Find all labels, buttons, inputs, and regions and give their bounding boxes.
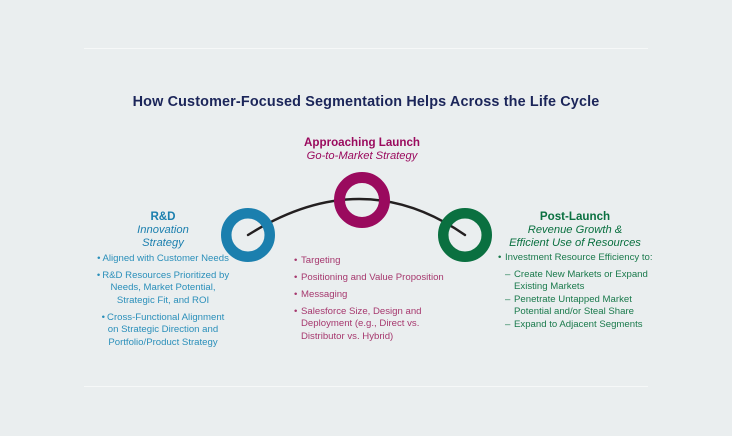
dash-icon: – [505, 319, 510, 331]
bullet-icon: • [102, 312, 105, 323]
list-item: •Aligned with Customer Needs [88, 253, 238, 265]
bullet-list-launch: •Targeting•Positioning and Value Proposi… [294, 255, 444, 348]
list-item-line: Penetrate Untapped Market [514, 294, 632, 305]
list-item-line: Existing Markets [514, 281, 584, 292]
list-item: •Messaging [294, 289, 444, 301]
list-item: –Expand to Adjacent Segments [505, 319, 656, 331]
stage-header-rd: R&D Innovation Strategy [98, 210, 228, 250]
list-item: •Salesforce Size, Design andDeployment (… [294, 306, 444, 343]
stage-subtitle-post-line2: Efficient Use of Resources [500, 237, 650, 250]
list-item-line: Strategic Fit, and ROI [117, 295, 209, 306]
list-item: •Targeting [294, 255, 444, 267]
stage-subtitle-post-line1: Revenue Growth & [500, 224, 650, 237]
list-item-line: Potential and/or Steal Share [514, 306, 634, 317]
list-item-line: Needs, Market Potential, [110, 282, 215, 293]
bullet-icon: • [294, 255, 297, 267]
stage-subtitle-rd-line1: Innovation [98, 224, 228, 237]
stage-title-launch: Approaching Launch [287, 136, 437, 150]
stage-header-post: Post-Launch Revenue Growth & Efficient U… [500, 210, 650, 250]
list-item-line: Aligned with Customer Needs [102, 253, 228, 264]
bullet-icon: • [294, 289, 297, 301]
stage-subtitle-rd-line2: Strategy [98, 237, 228, 250]
dash-icon: – [505, 294, 510, 306]
list-item-line: Salesforce Size, Design and [301, 306, 422, 317]
list-item-line: Positioning and Value Proposition [301, 272, 444, 283]
stage-title-post: Post-Launch [500, 210, 650, 224]
list-item: –Create New Markets or ExpandExisting Ma… [505, 269, 656, 294]
bullet-icon: • [97, 253, 100, 264]
list-item-line: Messaging [301, 289, 347, 300]
bullet-icon: • [294, 272, 297, 284]
list-item-line: Deployment (e.g., Direct vs. [301, 318, 419, 329]
list-item-line: Targeting [301, 255, 340, 266]
bullet-list-rd: •Aligned with Customer Needs•R&D Resourc… [88, 253, 238, 354]
list-item-line: Investment Resource Efficiency to: [505, 252, 653, 263]
list-item: •Positioning and Value Proposition [294, 272, 444, 284]
bullet-icon: • [294, 306, 297, 318]
stage-header-launch: Approaching Launch Go-to-Market Strategy [287, 136, 437, 163]
slide-canvas: How Customer-Focused Segmentation Helps … [0, 0, 732, 436]
list-item-line: Create New Markets or Expand [514, 269, 648, 280]
list-item-line: Distributor vs. Hybrid) [301, 331, 393, 342]
dash-icon: – [505, 269, 510, 281]
list-item-line: R&D Resources Prioritized by [102, 270, 229, 281]
bullet-icon: • [498, 252, 501, 264]
list-item: •R&D Resources Prioritized byNeeds, Mark… [88, 270, 238, 307]
list-item-line: Cross-Functional Alignment [107, 312, 224, 323]
stage-subtitle-launch-line1: Go-to-Market Strategy [287, 150, 437, 163]
bullet-list-post: •Investment Resource Efficiency to:–Crea… [498, 252, 656, 331]
stage-title-rd: R&D [98, 210, 228, 224]
list-item: –Penetrate Untapped MarketPotential and/… [505, 294, 656, 319]
list-item: •Cross-Functional Alignmenton Strategic … [88, 312, 238, 349]
list-item-line: Portfolio/Product Strategy [108, 337, 217, 348]
list-item: •Investment Resource Efficiency to: [498, 252, 656, 264]
list-item-line: on Strategic Direction and [108, 324, 218, 335]
bullet-icon: • [97, 270, 100, 281]
list-item-line: Expand to Adjacent Segments [514, 319, 643, 330]
